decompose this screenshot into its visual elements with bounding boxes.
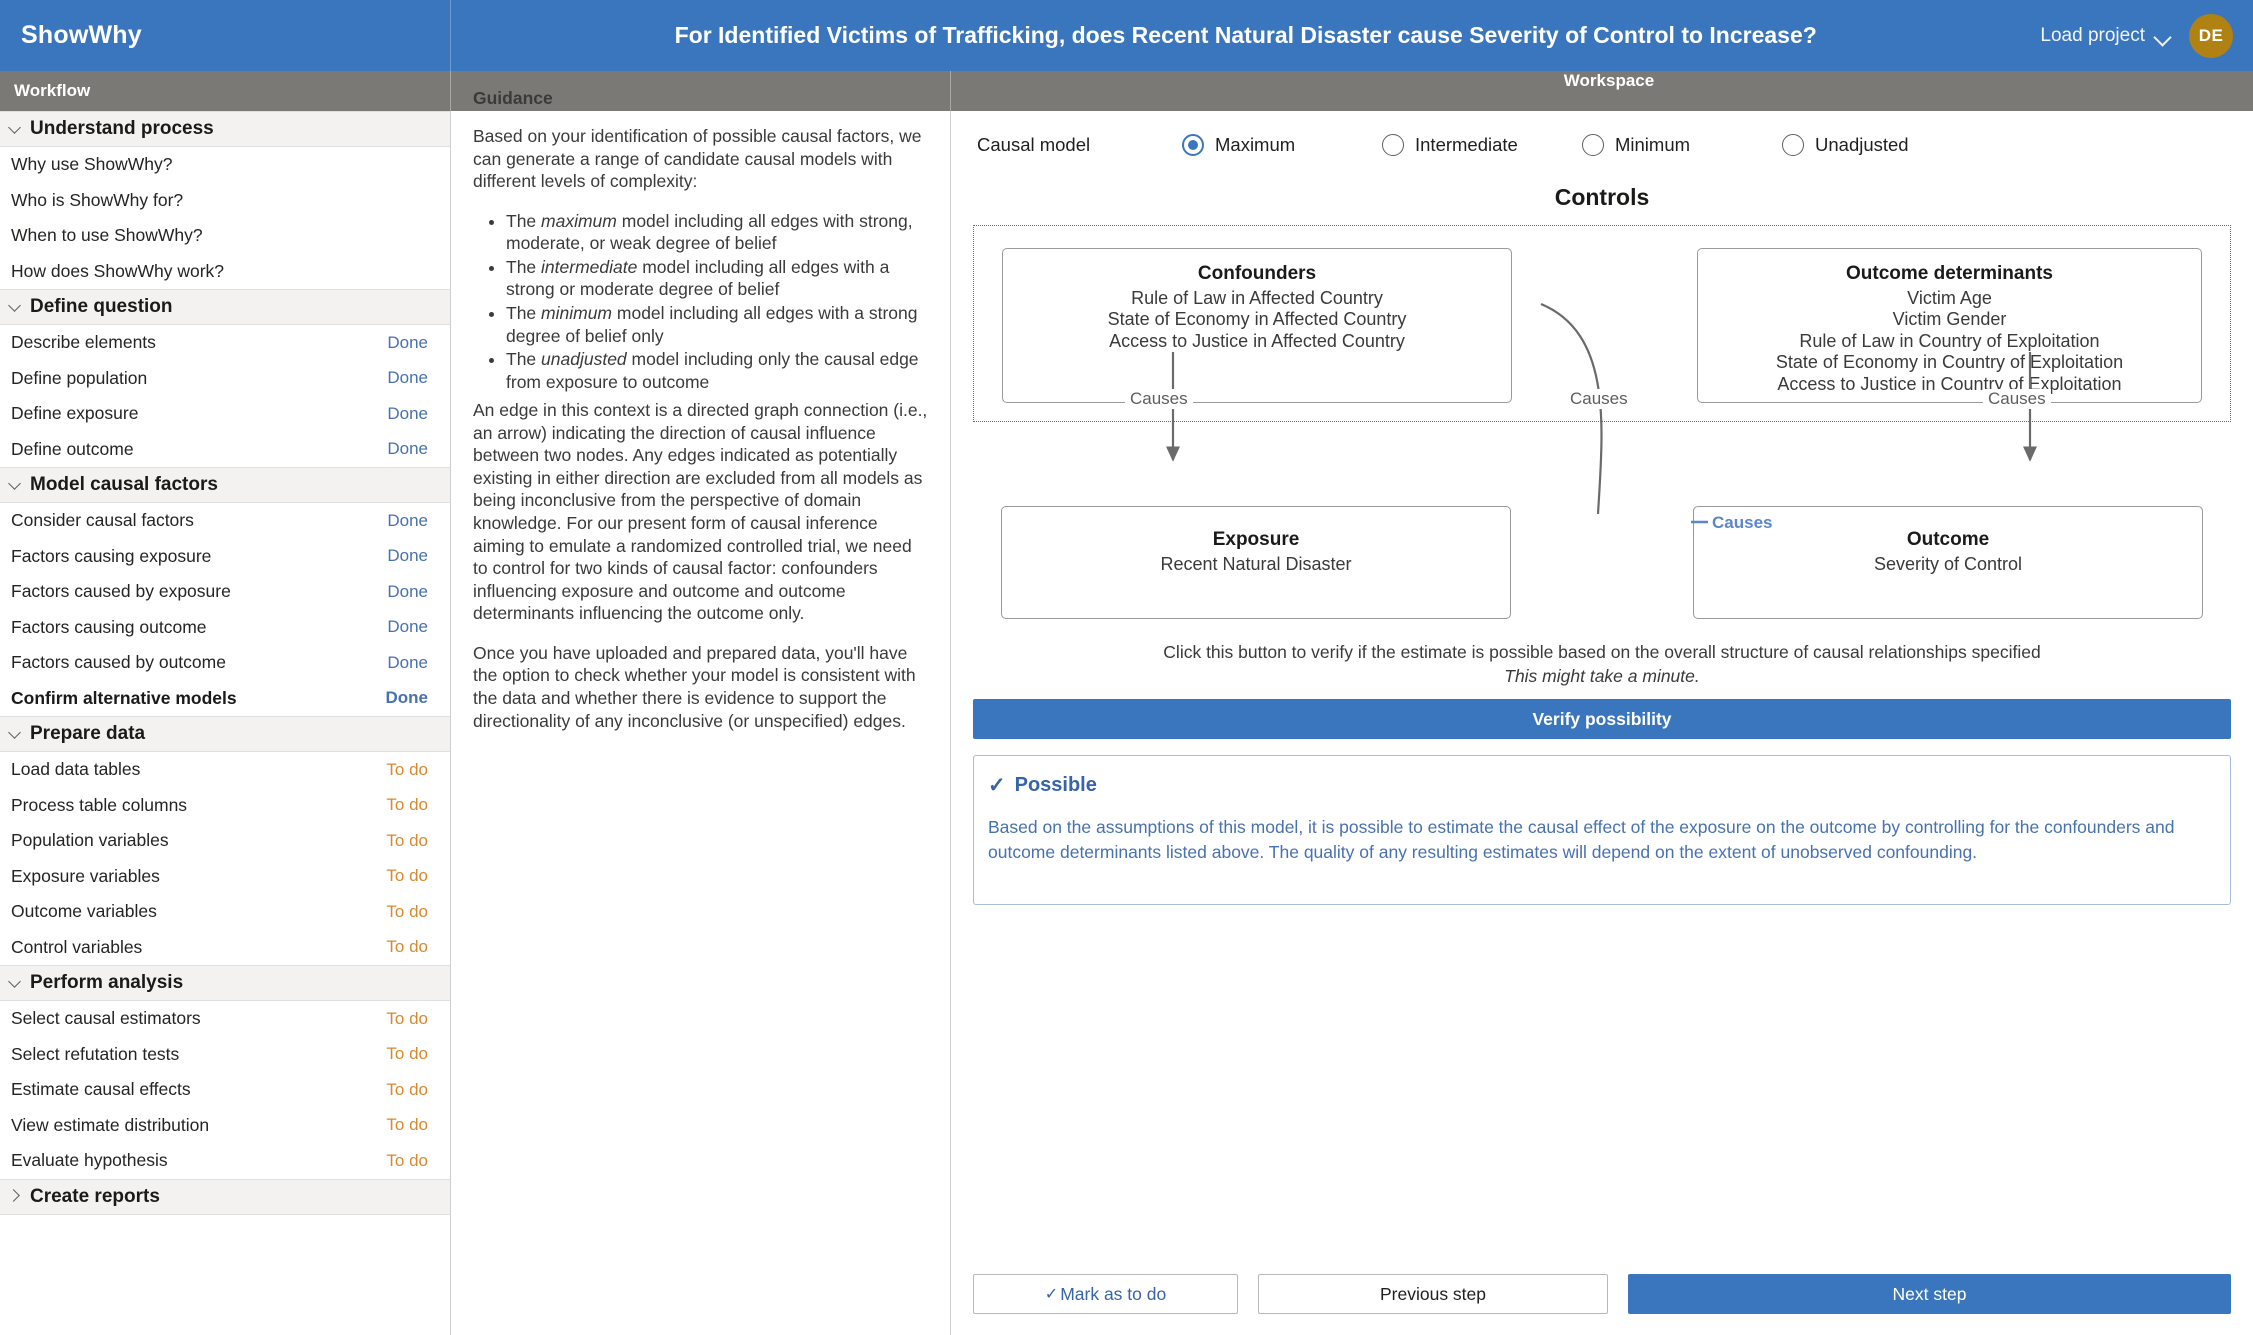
causal-model-radio-group[interactable]: MaximumIntermediateMinimumUnadjusted	[1182, 134, 1982, 156]
node-confounders-items: Rule of Law in Affected CountryState of …	[1019, 288, 1495, 352]
status-badge: To do	[386, 795, 428, 815]
confounder-item: State of Economy in Affected Country	[1019, 309, 1495, 330]
sidebar-item-factors-causing-outcome[interactable]: Factors causing outcomeDone	[0, 610, 450, 646]
sidebar-item-control-variables[interactable]: Control variablesTo do	[0, 930, 450, 966]
sidebar-item-consider-causal-factors[interactable]: Consider causal factorsDone	[0, 503, 450, 539]
guidance-bullet-prefix: The	[506, 349, 541, 369]
guidance-bullet-emphasis: minimum	[541, 303, 612, 323]
sidebar-item-define-population[interactable]: Define populationDone	[0, 361, 450, 397]
chevron-down-icon	[9, 976, 22, 989]
status-badge: Done	[387, 511, 428, 531]
sidebar-item-label: Consider causal factors	[11, 510, 194, 531]
sidebar-item-evaluate-hypothesis[interactable]: Evaluate hypothesisTo do	[0, 1143, 450, 1179]
sidebar-item-why-use-showwhy[interactable]: Why use ShowWhy?	[0, 147, 450, 183]
app-header: ShowWhy For Identified Victims of Traffi…	[0, 0, 2253, 71]
radio-label: Unadjusted	[1815, 134, 1909, 156]
app-body: Understand processWhy use ShowWhy?Who is…	[0, 111, 2253, 1335]
node-confounders[interactable]: Confounders Rule of Law in Affected Coun…	[1002, 248, 1512, 403]
guidance-paragraph-2: An edge in this context is a directed gr…	[473, 399, 930, 625]
sidebar-item-select-refutation-tests[interactable]: Select refutation testsTo do	[0, 1037, 450, 1073]
edge-label-confounders-exposure: Causes	[1125, 389, 1193, 409]
sidebar-item-confirm-alternative-models[interactable]: Confirm alternative modelsDone	[0, 681, 450, 717]
sidebar-item-label: Define exposure	[11, 403, 138, 424]
verify-note: Click this button to verify if the estim…	[973, 641, 2231, 688]
node-exposure-value: Recent Natural Disaster	[1018, 554, 1494, 575]
sidebar-group-define-question[interactable]: Define question	[0, 289, 450, 325]
mark-as-todo-label: Mark as to do	[1060, 1284, 1166, 1305]
check-icon: ✓	[988, 775, 1006, 796]
radio-label: Minimum	[1615, 134, 1690, 156]
sidebar-item-label: Describe elements	[11, 332, 156, 353]
app-brand[interactable]: ShowWhy	[0, 0, 451, 71]
mark-as-todo-button[interactable]: ✓ Mark as to do	[973, 1274, 1238, 1314]
chevron-down-icon	[9, 478, 22, 491]
column-header-workflow: Workflow	[0, 71, 451, 111]
status-badge: To do	[386, 866, 428, 886]
radio-button-icon	[1782, 134, 1804, 156]
radio-button-icon	[1382, 134, 1404, 156]
sidebar-item-label: Select causal estimators	[11, 1008, 201, 1029]
status-badge: Done	[387, 617, 428, 637]
causal-diagram: Controls Confounders Rule of Law in Affe…	[973, 184, 2231, 619]
causal-model-label: Causal model	[977, 134, 1182, 156]
chevron-down-icon	[9, 300, 22, 313]
node-outcome-value: Severity of Control	[1710, 554, 2186, 575]
verify-note-line1: Click this button to verify if the estim…	[973, 641, 2231, 665]
guidance-bullet-prefix: The	[506, 303, 541, 323]
sidebar-item-exposure-variables[interactable]: Exposure variablesTo do	[0, 859, 450, 895]
sidebar-item-factors-causing-exposure[interactable]: Factors causing exposureDone	[0, 539, 450, 575]
page-title: For Identified Victims of Trafficking, d…	[451, 22, 2040, 49]
determinant-item: Rule of Law in Country of Exploitation	[1714, 331, 2185, 352]
status-badge: To do	[386, 1151, 428, 1171]
guidance-panel: Based on your identification of possible…	[451, 111, 951, 1335]
sidebar-item-load-data-tables[interactable]: Load data tablesTo do	[0, 752, 450, 788]
sidebar-item-label: Factors causing outcome	[11, 617, 207, 638]
confounder-item: Access to Justice in Affected Country	[1019, 331, 1495, 352]
diagram-lower-row: Exposure Recent Natural Disaster Outcome…	[973, 506, 2231, 619]
workspace-panel: Causal model MaximumIntermediateMinimumU…	[951, 111, 2253, 1335]
edge-label-exposure-outcome: Causes	[1708, 513, 1776, 533]
column-headers: Workflow Guidance Workspace	[0, 71, 2253, 111]
sidebar-item-label: Select refutation tests	[11, 1044, 179, 1065]
guidance-bullet: The unadjusted model including only the …	[506, 348, 930, 393]
sidebar-item-label: Population variables	[11, 830, 169, 851]
status-badge: Done	[387, 653, 428, 673]
sidebar-group-label: Define question	[30, 296, 173, 318]
sidebar-group-perform-analysis[interactable]: Perform analysis	[0, 965, 450, 1001]
header-actions: Load project DE	[2040, 14, 2253, 58]
load-project-label: Load project	[2040, 25, 2145, 47]
status-badge: To do	[386, 937, 428, 957]
workflow-sidebar[interactable]: Understand processWhy use ShowWhy?Who is…	[0, 111, 451, 1335]
sidebar-item-describe-elements[interactable]: Describe elementsDone	[0, 325, 450, 361]
sidebar-group-label: Prepare data	[30, 723, 145, 745]
sidebar-item-label: Define population	[11, 368, 147, 389]
sidebar-item-view-estimate-distribution[interactable]: View estimate distributionTo do	[0, 1108, 450, 1144]
sidebar-item-label: Exposure variables	[11, 866, 160, 887]
possibility-result-heading: ✓ Possible	[988, 774, 2216, 797]
guidance-bullet: The maximum model including all edges wi…	[506, 210, 930, 255]
sidebar-group-model-causal-factors[interactable]: Model causal factors	[0, 467, 450, 503]
sidebar-group-create-reports[interactable]: Create reports	[0, 1179, 450, 1215]
possibility-result-label: Possible	[1015, 774, 1097, 797]
status-badge: Done	[387, 582, 428, 602]
status-badge: Done	[387, 368, 428, 388]
workspace-footer: ✓ Mark as to do Previous step Next step	[951, 1253, 2253, 1335]
guidance-bullet-list: The maximum model including all edges wi…	[473, 210, 930, 394]
sidebar-item-label: Evaluate hypothesis	[11, 1150, 168, 1171]
guidance-intro: Based on your identification of possible…	[473, 125, 930, 193]
sidebar-item-select-causal-estimators[interactable]: Select causal estimatorsTo do	[0, 1001, 450, 1037]
verify-note-line2: This might take a minute.	[973, 665, 2231, 689]
sidebar-item-label: Outcome variables	[11, 901, 157, 922]
app-root: ShowWhy For Identified Victims of Traffi…	[0, 0, 2253, 1335]
determinant-item: Access to Justice in Country of Exploita…	[1714, 374, 2185, 395]
guidance-bullet: The intermediate model including all edg…	[506, 256, 930, 301]
node-outcome-determinants-items: Victim AgeVictim GenderRule of Law in Co…	[1714, 288, 2185, 395]
status-badge: To do	[386, 1009, 428, 1029]
node-outcome-determinants-title: Outcome determinants	[1714, 263, 2185, 285]
sidebar-item-factors-caused-by-exposure[interactable]: Factors caused by exposureDone	[0, 574, 450, 610]
guidance-bullet-prefix: The	[506, 257, 541, 277]
sidebar-item-label: When to use ShowWhy?	[11, 225, 203, 246]
status-badge: Done	[387, 333, 428, 353]
sidebar-item-label: Who is ShowWhy for?	[11, 190, 183, 211]
radio-maximum[interactable]: Maximum	[1182, 134, 1382, 156]
causal-model-selector: Causal model MaximumIntermediateMinimumU…	[973, 111, 2231, 178]
guidance-bullet-prefix: The	[506, 211, 541, 231]
checkmark-icon: ✓	[1045, 1284, 1058, 1304]
diagram-title: Controls	[973, 184, 2231, 211]
status-badge: To do	[386, 831, 428, 851]
previous-step-button[interactable]: Previous step	[1258, 1274, 1608, 1314]
sidebar-item-when-to-use-showwhy[interactable]: When to use ShowWhy?	[0, 218, 450, 254]
sidebar-group-label: Understand process	[30, 118, 214, 140]
node-outcome-title: Outcome	[1710, 529, 2186, 551]
sidebar-item-process-table-columns[interactable]: Process table columnsTo do	[0, 788, 450, 824]
sidebar-item-label: Why use ShowWhy?	[11, 154, 172, 175]
radio-label: Intermediate	[1415, 134, 1518, 156]
radio-intermediate[interactable]: Intermediate	[1382, 134, 1582, 156]
determinant-item: State of Economy in Country of Exploitat…	[1714, 352, 2185, 373]
workspace-content: Causal model MaximumIntermediateMinimumU…	[951, 111, 2253, 1253]
sidebar-group-label: Create reports	[30, 1186, 160, 1208]
confounder-item: Rule of Law in Affected Country	[1019, 288, 1495, 309]
sidebar-item-label: Factors causing exposure	[11, 546, 211, 567]
sidebar-item-label: Process table columns	[11, 795, 187, 816]
status-badge: To do	[386, 1080, 428, 1100]
sidebar-item-population-variables[interactable]: Population variablesTo do	[0, 823, 450, 859]
column-header-guidance: Guidance	[451, 71, 951, 111]
status-badge: Done	[387, 439, 428, 459]
status-badge: To do	[386, 760, 428, 780]
chevron-down-icon	[9, 122, 22, 135]
avatar[interactable]: DE	[2189, 14, 2233, 58]
status-badge: To do	[386, 1115, 428, 1135]
load-project-dropdown[interactable]: Load project	[2040, 25, 2171, 47]
sidebar-item-label: Confirm alternative models	[11, 688, 237, 709]
sidebar-group-label: Model causal factors	[30, 474, 218, 496]
sidebar-item-label: Define outcome	[11, 439, 134, 460]
next-step-button[interactable]: Next step	[1628, 1274, 2231, 1314]
sidebar-item-label: Factors caused by exposure	[11, 581, 231, 602]
status-badge: To do	[386, 1044, 428, 1064]
chevron-down-icon	[9, 727, 22, 740]
node-confounders-title: Confounders	[1019, 263, 1495, 285]
status-badge: Done	[386, 688, 429, 708]
verify-possibility-button[interactable]: Verify possibility	[973, 699, 2231, 739]
radio-minimum[interactable]: Minimum	[1582, 134, 1782, 156]
node-exposure[interactable]: Exposure Recent Natural Disaster	[1001, 506, 1511, 619]
sidebar-item-how-does-showwhy-work[interactable]: How does ShowWhy work?	[0, 254, 450, 290]
sidebar-item-define-outcome[interactable]: Define outcomeDone	[0, 432, 450, 468]
status-badge: To do	[386, 902, 428, 922]
chevron-down-icon	[2155, 31, 2171, 40]
edge-label-confounders-outcome: Causes	[1565, 389, 1633, 409]
guidance-bullet: The minimum model including all edges wi…	[506, 302, 930, 347]
node-exposure-title: Exposure	[1018, 529, 1494, 551]
status-badge: Done	[387, 404, 428, 424]
radio-unadjusted[interactable]: Unadjusted	[1782, 134, 1982, 156]
node-outcome-determinants[interactable]: Outcome determinants Victim AgeVictim Ge…	[1697, 248, 2202, 403]
sidebar-item-label: View estimate distribution	[11, 1115, 209, 1136]
guidance-paragraph-3: Once you have uploaded and prepared data…	[473, 642, 930, 732]
sidebar-item-label: How does ShowWhy work?	[11, 261, 224, 282]
column-header-workspace: Workspace	[951, 71, 2253, 111]
determinant-item: Victim Age	[1714, 288, 2185, 309]
determinant-item: Victim Gender	[1714, 309, 2185, 330]
sidebar-group-understand-process[interactable]: Understand process	[0, 111, 450, 147]
radio-button-icon	[1582, 134, 1604, 156]
sidebar-group-label: Perform analysis	[30, 972, 183, 994]
chevron-right-icon	[9, 1189, 22, 1202]
radio-button-icon	[1182, 134, 1204, 156]
guidance-bullet-emphasis: intermediate	[541, 257, 637, 277]
sidebar-item-label: Control variables	[11, 937, 142, 958]
sidebar-item-outcome-variables[interactable]: Outcome variablesTo do	[0, 894, 450, 930]
sidebar-item-estimate-causal-effects[interactable]: Estimate causal effectsTo do	[0, 1072, 450, 1108]
sidebar-item-who-is-showwhy-for[interactable]: Who is ShowWhy for?	[0, 183, 450, 219]
guidance-bullet-emphasis: unadjusted	[541, 349, 627, 369]
radio-label: Maximum	[1215, 134, 1295, 156]
sidebar-item-factors-caused-by-outcome[interactable]: Factors caused by outcomeDone	[0, 645, 450, 681]
sidebar-item-define-exposure[interactable]: Define exposureDone	[0, 396, 450, 432]
sidebar-group-prepare-data[interactable]: Prepare data	[0, 716, 450, 752]
guidance-bullet-emphasis: maximum	[541, 211, 617, 231]
possibility-result-body: Based on the assumptions of this model, …	[988, 815, 2216, 865]
sidebar-item-label: Factors caused by outcome	[11, 652, 226, 673]
possibility-result-card: ✓ Possible Based on the assumptions of t…	[973, 755, 2231, 905]
sidebar-item-label: Load data tables	[11, 759, 140, 780]
sidebar-item-label: Estimate causal effects	[11, 1079, 191, 1100]
status-badge: Done	[387, 546, 428, 566]
edge-label-determinants-outcome: Causes	[1983, 389, 2051, 409]
